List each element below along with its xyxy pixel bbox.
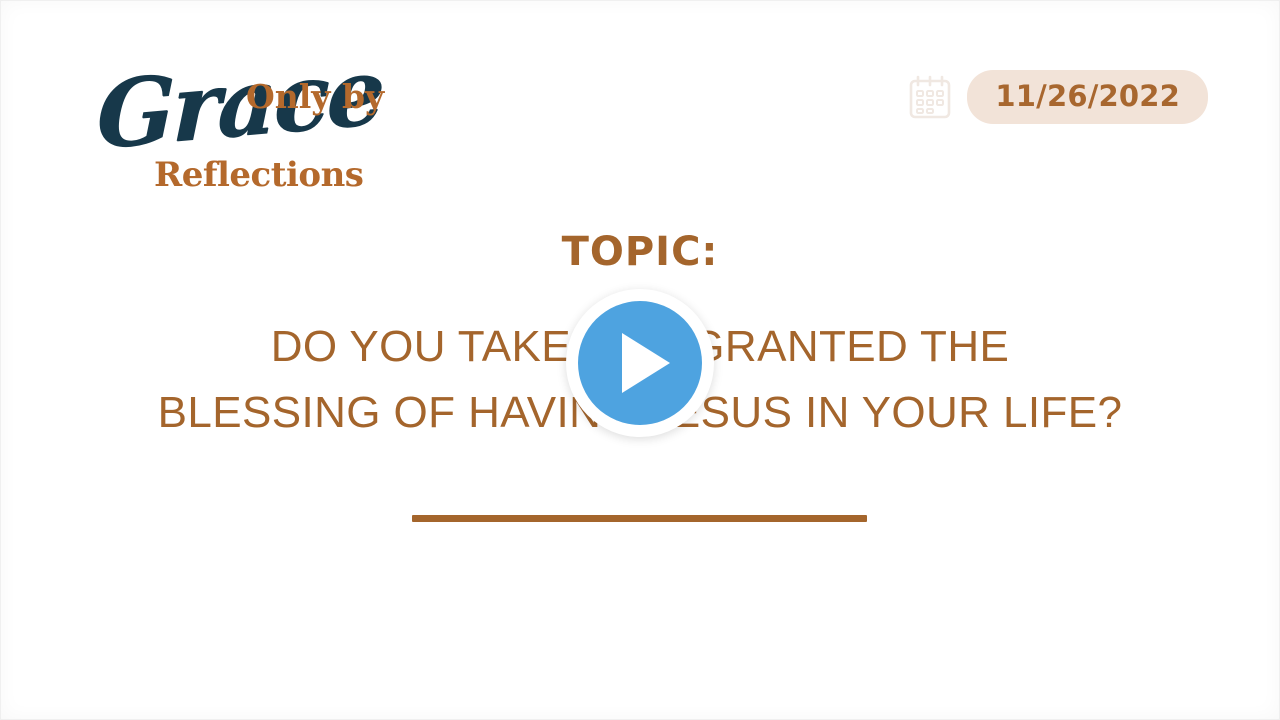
topic-label: TOPIC: <box>0 232 1280 272</box>
date-badge: 11/26/2022 <box>967 70 1208 124</box>
play-button-disc <box>578 301 702 425</box>
date-value: 11/26/2022 <box>995 82 1180 111</box>
divider-rule <box>412 515 867 522</box>
play-button[interactable] <box>566 289 714 437</box>
date-area: 11/26/2022 <box>907 70 1208 124</box>
brand-logo: Grace Only by Reflections <box>96 64 356 204</box>
brand-tagline-bottom: Reflections <box>154 158 363 192</box>
video-thumbnail[interactable]: Grace Only by Reflections 11/26/2022 TOP… <box>0 0 1280 720</box>
play-triangle-icon <box>622 333 670 393</box>
brand-tagline-top: Only by <box>246 80 384 113</box>
calendar-icon <box>907 73 953 121</box>
